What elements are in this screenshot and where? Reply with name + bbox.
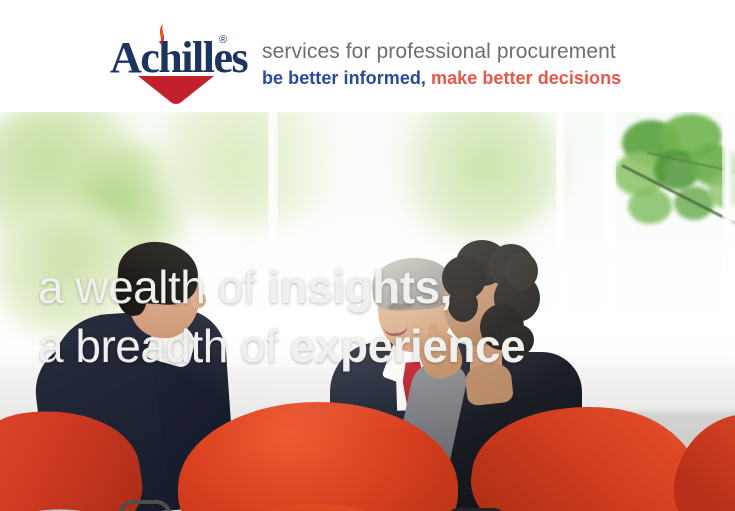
briefcase-left-handle <box>118 500 172 511</box>
window-mullion <box>604 112 616 362</box>
tree-outside-window <box>612 112 735 342</box>
tagline-line-2: be better informed, make better decision… <box>262 67 621 90</box>
tagline-blue-text: be better informed, <box>262 68 426 88</box>
hero-banner: a wealth of insights, a breadth of exper… <box>0 112 735 511</box>
achilles-logo[interactable]: Achilles ® <box>110 22 250 94</box>
hero-line1-bold: insights, <box>267 261 452 313</box>
hero-headline-line-1: a wealth of insights, <box>38 262 525 313</box>
window-mullion <box>556 112 565 362</box>
page-root: Achilles ® services for professional pro… <box>0 0 735 511</box>
hero-line2-plain: a breadth of <box>38 320 290 372</box>
site-header: Achilles ® services for professional pro… <box>0 0 735 112</box>
tagline-line-1: services for professional procurement <box>262 38 621 65</box>
window-mullion <box>722 112 735 362</box>
registered-trademark: ® <box>219 34 227 46</box>
hero-headline: a wealth of insights, a breadth of exper… <box>38 262 525 371</box>
hero-line2-bold: experience <box>290 320 525 372</box>
hero-headline-line-2: a breadth of experience <box>38 321 525 372</box>
tagline-red-text: make better decisions <box>431 68 621 88</box>
flame-icon <box>157 19 168 45</box>
tagline: services for professional procurement be… <box>262 38 621 91</box>
hero-line1-plain: a wealth of <box>38 261 267 313</box>
triangle-icon <box>138 74 214 104</box>
